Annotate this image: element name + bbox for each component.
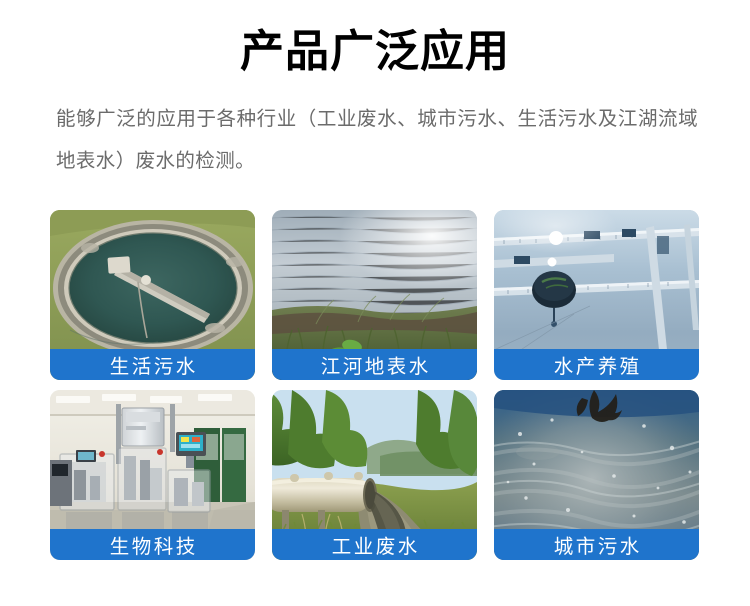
application-card[interactable]: 江河地表水 — [272, 210, 477, 380]
application-card[interactable]: 生活污水 — [50, 210, 255, 380]
application-card[interactable]: 城市污水 — [494, 390, 699, 560]
product-application-page: 产品广泛应用 能够广泛的应用于各种行业（工业废水、城市污水、生活污水及江湖流域地… — [0, 0, 750, 606]
page-header: 产品广泛应用 能够广泛的应用于各种行业（工业废水、城市污水、生活污水及江湖流域地… — [0, 0, 750, 182]
card-label: 工业废水 — [272, 529, 477, 560]
page-title: 产品广泛应用 — [0, 26, 750, 78]
application-card[interactable]: 生物科技 — [50, 390, 255, 560]
application-card[interactable]: 工业废水 — [272, 390, 477, 560]
card-label: 水产养殖 — [494, 349, 699, 380]
page-subtitle: 能够广泛的应用于各种行业（工业废水、城市污水、生活污水及江湖流域地表水）废水的检… — [56, 98, 698, 182]
application-card[interactable]: 水产养殖 — [494, 210, 699, 380]
page-subtitle-wrapper: 能够广泛的应用于各种行业（工业废水、城市污水、生活污水及江湖流域地表水）废水的检… — [0, 98, 750, 182]
card-label: 江河地表水 — [272, 349, 477, 380]
card-label: 生物科技 — [50, 529, 255, 560]
application-card-grid: 生活污水 — [50, 210, 700, 560]
card-label: 城市污水 — [494, 529, 699, 560]
card-label: 生活污水 — [50, 349, 255, 380]
